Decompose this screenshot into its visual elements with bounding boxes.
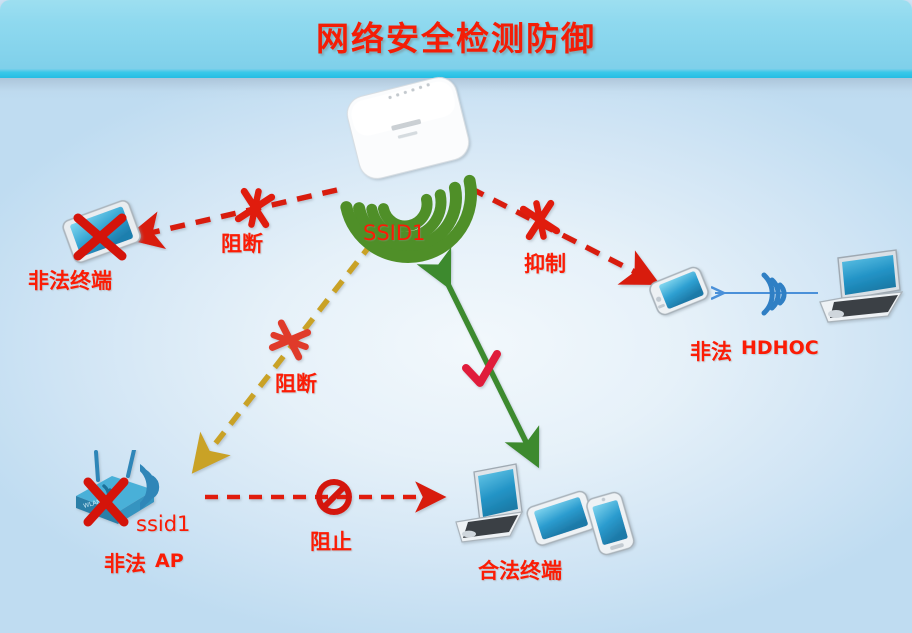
legal-terminals-icons bbox=[452, 460, 642, 570]
rogue-adhoc-label-cn: 非法 bbox=[690, 336, 732, 366]
rogue-ap-label-cn: 非法 bbox=[104, 548, 146, 578]
laptop-icon bbox=[456, 464, 522, 542]
link-label-block-rogue-ap: 阻断 bbox=[275, 368, 317, 398]
diagram-page: 网络安全检测防御 bbox=[0, 0, 912, 633]
link-label-suppress-rogue-adhoc: 抑制 bbox=[524, 248, 566, 278]
adhoc-wifi-arcs bbox=[750, 263, 812, 325]
link-block-rogue-ap bbox=[208, 243, 372, 453]
link-label-block-rogue-terminal: 阻断 bbox=[221, 228, 263, 258]
link-allow-legal-terminals bbox=[440, 268, 528, 446]
rogue-terminal-node[interactable] bbox=[52, 194, 148, 266]
rogue-adhoc-laptop-node[interactable] bbox=[812, 246, 908, 332]
blue-wifi-arcs-icon bbox=[140, 456, 194, 518]
page-header: 网络安全检测防御 bbox=[0, 0, 912, 78]
diagram-canvas: SSID1 阻断 抑制 阻断 阻止 bbox=[0, 78, 912, 633]
ssid1-label-central: SSID1 bbox=[363, 221, 425, 245]
rogue-terminal-label: 非法终端 bbox=[28, 265, 112, 295]
tablet-icon bbox=[52, 194, 148, 266]
link-label-prevent-rogue-ap-to-legal: 阻止 bbox=[310, 526, 352, 556]
link-prevent-rogue-ap-to-legal bbox=[205, 482, 425, 512]
legal-terminals-node[interactable] bbox=[452, 460, 642, 570]
rogue-ap-signal bbox=[140, 456, 194, 518]
rogue-ap-label-en: AP bbox=[155, 550, 184, 572]
rogue-adhoc-label-en: HDHOC bbox=[741, 337, 819, 359]
page-title: 网络安全检测防御 bbox=[0, 12, 912, 60]
x-mark-icon bbox=[238, 188, 272, 227]
smartphone-icon bbox=[585, 491, 636, 557]
rogue-ap-ssid-label: ssid1 bbox=[136, 512, 190, 536]
legal-terminals-label: 合法终端 bbox=[478, 555, 562, 585]
smartphone-icon bbox=[640, 256, 720, 336]
laptop-icon bbox=[812, 246, 908, 332]
tablet-icon bbox=[525, 490, 596, 547]
rogue-adhoc-phone-node[interactable] bbox=[640, 256, 720, 336]
link-block-rogue-terminal bbox=[150, 188, 337, 233]
blue-wifi-arcs-icon bbox=[750, 263, 812, 325]
